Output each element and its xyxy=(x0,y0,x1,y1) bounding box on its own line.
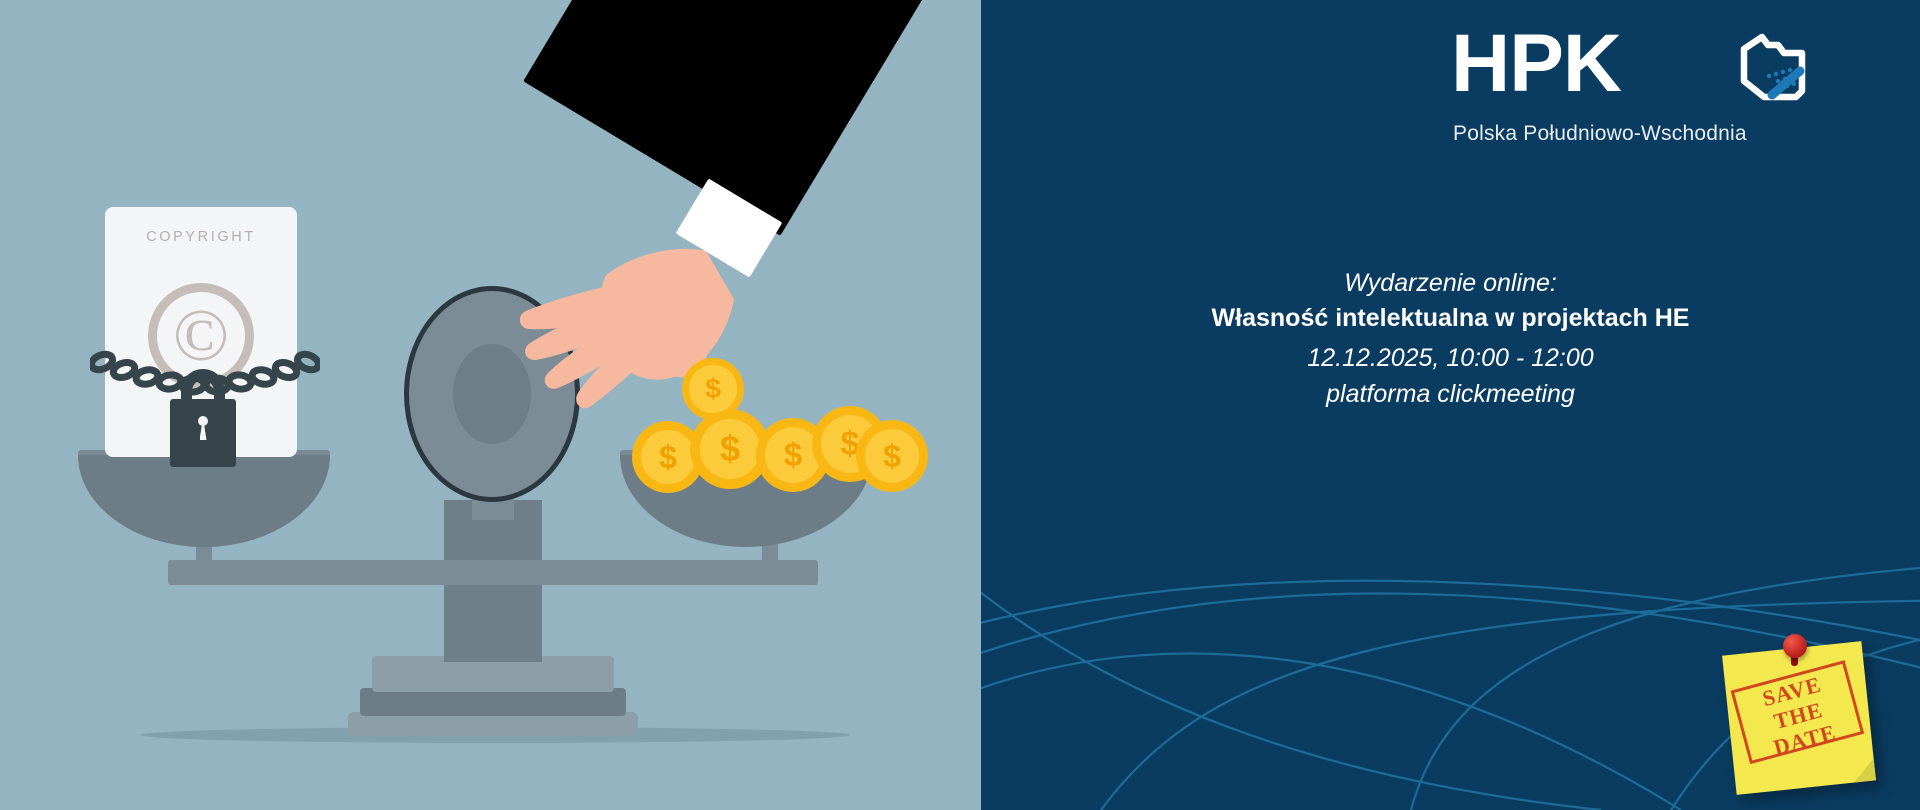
event-kicker: Wydarzenie online: xyxy=(981,268,1920,300)
event-banner: COPYRIGHT © xyxy=(0,0,1920,810)
shield-icon xyxy=(1734,27,1812,105)
keyhole-icon xyxy=(198,416,208,426)
content-panel: HPK xyxy=(981,0,1920,810)
scale-beam xyxy=(168,560,818,585)
coin-glyph: $ xyxy=(865,429,920,484)
hand-illustration xyxy=(520,245,820,455)
sticky-note: SAVE THE DATE xyxy=(1722,641,1876,795)
event-title: Własność intelektualna w projektach HE xyxy=(981,300,1920,335)
copyright-label: COPYRIGHT xyxy=(105,229,297,245)
illustration-panel: COPYRIGHT © xyxy=(0,0,981,810)
pushpin-icon xyxy=(1783,634,1807,658)
padlock-icon xyxy=(170,399,236,467)
save-the-date-note: SAVE THE DATE xyxy=(1721,632,1896,802)
logo-wordmark: HPK xyxy=(1451,22,1621,106)
scale-pan-left xyxy=(78,455,330,547)
event-details: Wydarzenie online: Własność intelektualn… xyxy=(981,268,1920,410)
event-datetime: 12.12.2025, 10:00 - 12:00 xyxy=(981,334,1920,375)
logo-subtitle: Polska Południowo-Wschodnia xyxy=(1453,122,1747,146)
save-the-date-stamp: SAVE THE DATE xyxy=(1731,660,1865,764)
event-platform: platforma clickmeeting xyxy=(981,375,1920,411)
coin: $ xyxy=(856,420,928,492)
hpk-logo: HPK xyxy=(1451,22,1811,142)
coin-glyph: $ xyxy=(689,365,736,412)
scale-base-middle xyxy=(360,688,626,716)
coin-falling: $ xyxy=(682,358,744,420)
